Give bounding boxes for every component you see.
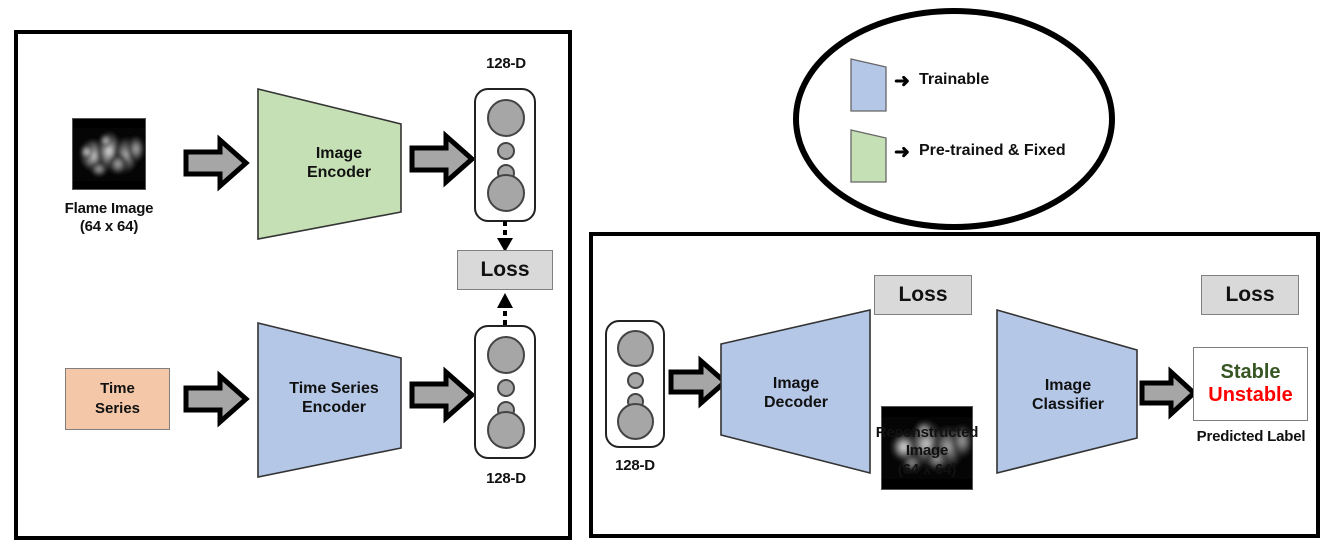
flame-image-pixels	[73, 119, 146, 190]
arrow-encoder-to-embedding	[410, 132, 474, 186]
embedding-bottom-capsule	[474, 325, 536, 459]
legend-swatch-fixed	[849, 128, 889, 184]
image-decoder-line1: Image	[764, 374, 828, 393]
embedding-node-small-1	[497, 142, 515, 160]
diagram-canvas: Flame Image (64 x 64) Image Encoder 128-…	[0, 0, 1334, 556]
time-series-line2: Series	[95, 399, 140, 419]
arrow-image-to-encoder	[184, 136, 248, 190]
legend-label-trainable: Trainable	[919, 71, 989, 89]
loss-box-classification: Loss	[1201, 275, 1299, 315]
dashed-arrow-bottom-to-loss	[495, 291, 515, 325]
embedding-top-label: 128-D	[470, 55, 542, 73]
legend-ellipse	[792, 6, 1116, 232]
predicted-label-caption: Predicted Label	[1183, 428, 1319, 446]
recon-caption-line3: (64 x 64)	[862, 461, 992, 479]
decoder-input-node-small-1	[627, 372, 644, 389]
image-encoder-line1: Image	[307, 144, 371, 163]
recon-caption-line1: Reconstructed	[862, 424, 992, 442]
decoder-input-label: 128-D	[599, 457, 671, 475]
decoder-input-node-large-2	[617, 403, 654, 440]
flame-caption-line1: Flame Image	[44, 200, 174, 218]
legend-arrow-icon-1: ➜	[894, 70, 910, 93]
reconstructed-image-caption: Reconstructed Image (64 x 64)	[862, 424, 992, 479]
flame-image	[72, 118, 146, 190]
embedding-bottom-node-small-1	[497, 379, 515, 397]
embedding-bottom-node-large-1	[487, 336, 525, 374]
embedding-bottom-node-large-2	[487, 411, 525, 449]
arrow-ts-to-encoder	[184, 372, 248, 426]
legend-label-fixed: Pre-trained & Fixed	[919, 142, 1066, 160]
image-decoder-label: Image Decoder	[740, 360, 852, 426]
flame-image-caption: Flame Image (64 x 64)	[44, 200, 174, 237]
ts-encoder-line2: Encoder	[289, 398, 379, 417]
image-decoder-line2: Decoder	[764, 393, 828, 412]
arrow-tsencoder-to-embedding	[410, 368, 474, 422]
embedding-node-large-2	[487, 174, 525, 212]
time-series-encoder-label: Time Series Encoder	[268, 362, 400, 434]
image-classifier-line1: Image	[1032, 376, 1104, 395]
loss-box-reconstruction: Loss	[874, 275, 972, 315]
time-series-line1: Time	[100, 379, 135, 399]
dashed-arrow-top-to-loss	[495, 221, 515, 253]
ts-encoder-line1: Time Series	[289, 379, 379, 398]
prediction-option-unstable: Unstable	[1208, 384, 1292, 407]
legend-arrow-icon-2: ➜	[894, 141, 910, 164]
recon-caption-line2: Image	[862, 442, 992, 460]
decoder-input-node-large-1	[617, 330, 654, 367]
flame-caption-line2: (64 x 64)	[44, 218, 174, 236]
embedding-top-capsule	[474, 88, 536, 222]
time-series-input-box: Time Series	[65, 368, 170, 430]
image-classifier-line2: Classifier	[1032, 395, 1104, 414]
embedding-bottom-label: 128-D	[470, 470, 542, 488]
legend-swatch-trainable	[849, 57, 889, 113]
image-classifier-label: Image Classifier	[1010, 362, 1126, 428]
decoder-input-capsule	[605, 320, 665, 448]
image-encoder-line2: Encoder	[307, 163, 371, 182]
embedding-node-large-1	[487, 99, 525, 137]
image-encoder-label: Image Encoder	[280, 128, 398, 198]
prediction-option-stable: Stable	[1220, 361, 1280, 384]
loss-box-embedding: Loss	[457, 250, 553, 290]
predicted-label-box: Stable Unstable	[1193, 347, 1308, 421]
arrow-classifier-to-prediction	[1140, 368, 1196, 418]
